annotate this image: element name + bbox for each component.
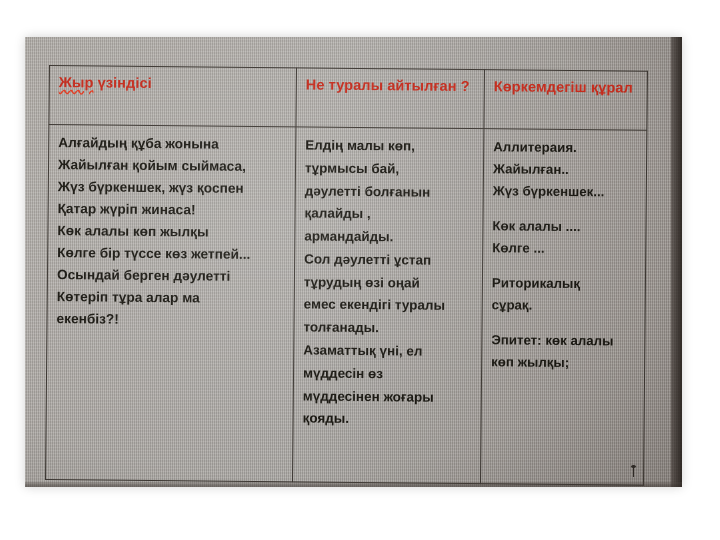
device-line: көп жылқы; xyxy=(491,351,636,375)
poem-line: Қатар жүріп жинаса! xyxy=(58,198,287,222)
monitor-bezel-right xyxy=(671,37,682,487)
poem-line: екенбіз?! xyxy=(56,308,285,332)
meaning-lines: Елдің малы көп, тұрмысы бай, дәулетті бо… xyxy=(303,134,476,432)
header-word-spellchecked: Жыр xyxy=(59,75,94,91)
projected-slide-area: Жыр үзіндісі Не туралы айтылған ? Көркем… xyxy=(25,37,682,487)
meaning-line: Елдің малы көп, xyxy=(305,134,475,158)
header-text-zhyr-uzindisi-rest: үзіндісі xyxy=(93,75,151,92)
poem-line: Көк алалы көп жылқы xyxy=(57,220,286,244)
meaning-line: Азаматтық үні, ел xyxy=(303,339,473,363)
body-cell-zhyr-uzindisi: Алғайдың құба жонына Жайылған қойым сыйм… xyxy=(46,125,296,482)
device-line: Жайылған.. xyxy=(493,158,638,182)
monitor-bezel-bottom xyxy=(25,482,682,487)
header-cell-korkemdegish-kural: Көркемдегіш құрал xyxy=(484,70,648,131)
poem-line: Жүз бүркеншек, жүз қоспен xyxy=(58,176,287,200)
poem-line: Көтеріп тұра алар ма xyxy=(57,286,286,310)
poem-excerpt-lines: Алғайдың құба жонына Жайылған қойым сыйм… xyxy=(56,132,287,332)
meaning-line: тұрмысы бай, xyxy=(305,157,475,181)
poem-line: Алғайдың құба жонына xyxy=(58,132,287,156)
literary-device-lines: Аллитераия. Жайылған.. Жүз бүркеншек... … xyxy=(491,136,638,375)
header-cell-zhyr-uzindisi: Жыр үзіндісі xyxy=(49,66,297,127)
header-text-ne-turaly-aitylgan: Не туралы айтылған ? xyxy=(306,77,470,95)
device-line: Риторикалық xyxy=(492,272,637,296)
meaning-line: дәулетті болғанын xyxy=(305,180,475,204)
poem-line: Жайылған қойым сыймаса, xyxy=(58,154,287,178)
header-cell-ne-turaly-aitylgan: Не туралы айтылған ? xyxy=(296,68,485,129)
body-cell-ne-turaly-aitylgan: Елдің малы көп, тұрмысы бай, дәулетті бо… xyxy=(293,127,484,484)
device-line: Жүз бүркеншек... xyxy=(493,181,638,205)
meaning-line: тұрудың өзі оңай xyxy=(304,271,474,295)
device-line: Көлге ... xyxy=(492,237,637,261)
table-body-row: Алғайдың құба жонына Жайылған қойым сыйм… xyxy=(46,125,647,486)
cursor-tick-mark xyxy=(633,466,635,477)
meaning-line: Сол дәулетті ұстап xyxy=(304,248,474,272)
poem-line: Осындай берген дәулетті xyxy=(57,264,286,288)
device-line: Көк алалы .... xyxy=(492,215,637,239)
device-line: Эпитет: көк алалы xyxy=(491,329,636,353)
photo-page-background: Жыр үзіндісі Не туралы айтылған ? Көркем… xyxy=(0,0,720,540)
slide-table-container: Жыр үзіндісі Не туралы айтылған ? Көркем… xyxy=(45,65,647,486)
meaning-line: толғанады. xyxy=(303,317,473,341)
body-cell-korkemdegish-kural: Аллитераия. Жайылған.. Жүз бүркеншек... … xyxy=(481,129,647,486)
meaning-line: мүддесінен жоғары xyxy=(303,385,473,409)
meaning-line: қояды. xyxy=(303,408,473,432)
header-text-korkemdegish-kural: Көркемдегіш құрал xyxy=(494,79,633,96)
poem-line: Көлге бір түссе көз жетпей... xyxy=(57,242,286,266)
device-line: сұрақ. xyxy=(492,294,637,318)
table-header-row: Жыр үзіндісі Не туралы айтылған ? Көркем… xyxy=(49,66,648,131)
meaning-line: армандайды. xyxy=(304,226,474,250)
analysis-table: Жыр үзіндісі Не туралы айтылған ? Көркем… xyxy=(45,65,648,486)
meaning-line: мүддесін өз xyxy=(303,362,473,386)
meaning-line: емес екендігі туралы xyxy=(304,294,474,318)
device-line: Аллитераия. xyxy=(493,136,638,160)
meaning-line: қалайды , xyxy=(304,203,474,227)
